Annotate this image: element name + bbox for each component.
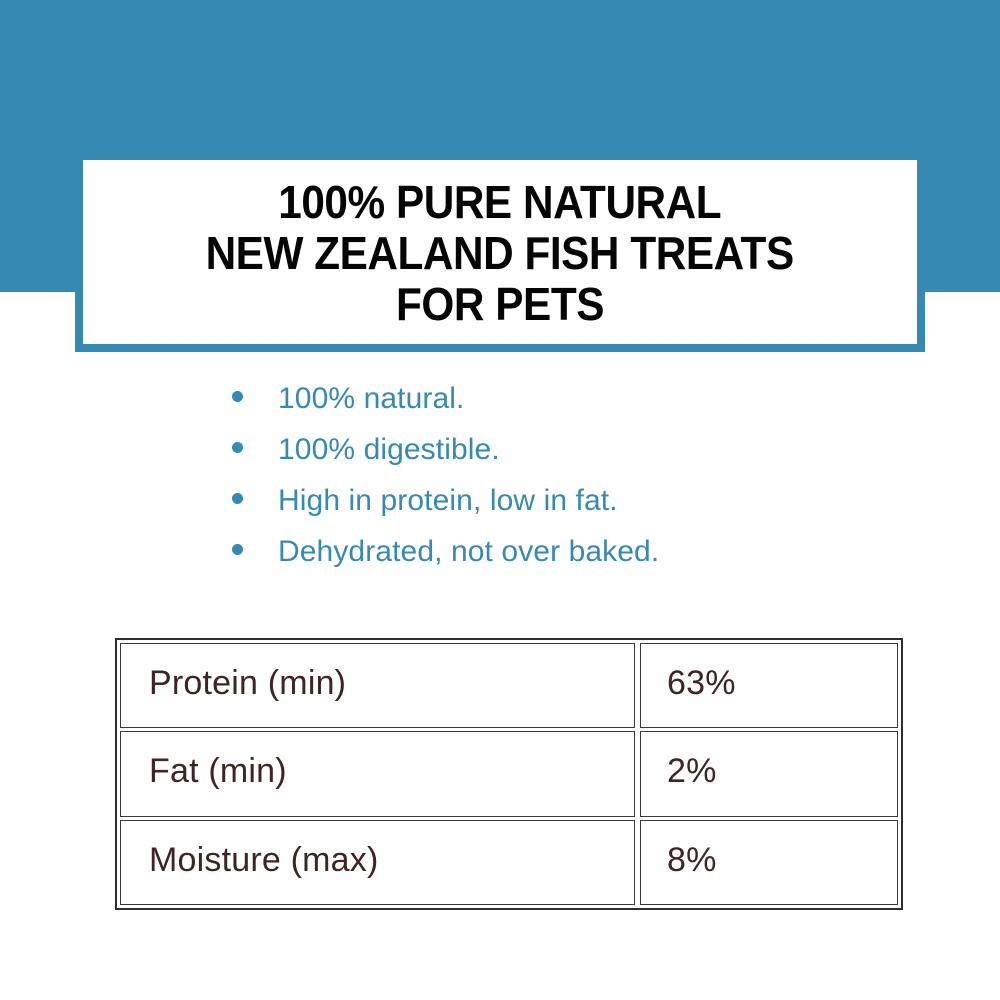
nutrient-value-cell: 8% bbox=[640, 820, 898, 905]
feature-text: High in protein, low in fat. bbox=[278, 484, 618, 518]
bullet-dot-icon bbox=[232, 391, 243, 402]
feature-text: 100% natural. bbox=[278, 382, 464, 416]
nutrient-label-cell: Protein (min) bbox=[120, 643, 635, 728]
list-item: 100% natural. bbox=[232, 382, 832, 433]
title-line-3: FOR PETS bbox=[396, 279, 604, 330]
bullet-dot-icon bbox=[232, 544, 243, 555]
feature-text: Dehydrated, not over baked. bbox=[278, 535, 659, 569]
nutrient-value-cell: 63% bbox=[640, 643, 898, 728]
title-line-2: NEW ZEALAND FISH TREATS bbox=[206, 228, 794, 279]
table-row: Moisture (max) 8% bbox=[120, 820, 898, 905]
guaranteed-analysis-table: Protein (min) 63% Fat (min) 2% Moisture … bbox=[115, 638, 903, 910]
title-card: 100% PURE NATURAL NEW ZEALAND FISH TREAT… bbox=[83, 160, 917, 344]
feature-list: 100% natural. 100% digestible. High in p… bbox=[232, 382, 832, 586]
feature-text: 100% digestible. bbox=[278, 433, 500, 467]
list-item: 100% digestible. bbox=[232, 433, 832, 484]
title-card-frame: 100% PURE NATURAL NEW ZEALAND FISH TREAT… bbox=[75, 152, 925, 352]
bullet-dot-icon bbox=[232, 442, 243, 453]
title-line-1: 100% PURE NATURAL bbox=[279, 177, 722, 228]
product-info-panel: 100% PURE NATURAL NEW ZEALAND FISH TREAT… bbox=[0, 0, 1000, 1000]
table-body: Protein (min) 63% Fat (min) 2% Moisture … bbox=[120, 643, 898, 905]
bullet-dot-icon bbox=[232, 493, 243, 504]
table-row: Protein (min) 63% bbox=[120, 643, 898, 728]
nutrient-label-cell: Moisture (max) bbox=[120, 820, 635, 905]
list-item: Dehydrated, not over baked. bbox=[232, 535, 832, 586]
list-item: High in protein, low in fat. bbox=[232, 484, 832, 535]
table-row: Fat (min) 2% bbox=[120, 731, 898, 816]
nutrient-label-cell: Fat (min) bbox=[120, 731, 635, 816]
nutrient-value-cell: 2% bbox=[640, 731, 898, 816]
